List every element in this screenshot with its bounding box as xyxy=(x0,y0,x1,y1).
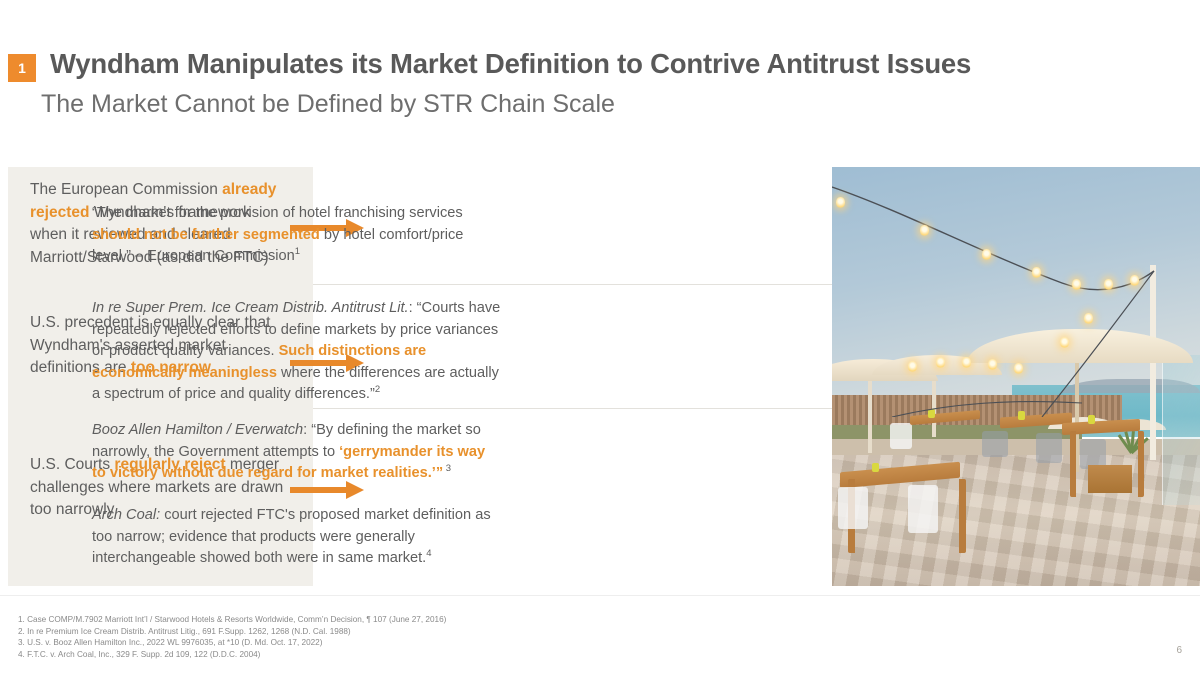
photo-bulb xyxy=(1060,337,1069,348)
arrow-shaft xyxy=(290,487,348,493)
claim-1-pre: The European Commission xyxy=(30,181,222,198)
photo-bulb xyxy=(1084,313,1093,324)
page-subtitle: The Market Cannot be Defined by STR Chai… xyxy=(41,90,1161,119)
photo-bulb xyxy=(988,359,997,370)
quote-1: “The market for the provision of hotel f… xyxy=(92,203,502,268)
photo-bulb xyxy=(836,197,845,208)
quote-1-seg-1: should not be further segmented xyxy=(92,227,320,243)
page-number: 6 xyxy=(1176,645,1182,656)
photo-chair-5 xyxy=(1036,433,1062,463)
photo-string-light-wires xyxy=(832,167,1200,417)
quote-1-seg-0: “The market for the provision of hotel f… xyxy=(92,205,463,221)
footnote-3: 3. U.S. v. Booz Allen Hamilton Inc., 202… xyxy=(18,637,818,649)
photo-chair-2 xyxy=(908,485,938,533)
rooftop-terrace-photo xyxy=(832,167,1200,586)
footer-divider xyxy=(0,595,1200,596)
quote-3: Booz Allen Hamilton / Everwatch: “By def… xyxy=(92,420,502,485)
photo-bulb xyxy=(1014,363,1023,374)
section-number-badge: 1 xyxy=(8,54,36,82)
photo-bulb xyxy=(920,225,929,236)
quote-3-case-name: Booz Allen Hamilton / Everwatch xyxy=(92,422,303,438)
photo-bulb xyxy=(962,357,971,368)
quote-2-footnote-ref: 2 xyxy=(375,384,380,395)
photo-bulb xyxy=(936,357,945,368)
photo-chair-1 xyxy=(838,487,868,529)
photo-bulb xyxy=(908,361,917,372)
quote-1-footnote-ref: 1 xyxy=(295,246,300,257)
footnote-1: 1. Case COMP/M.7902 Marriott Int’l / Sta… xyxy=(18,614,818,626)
photo-chair-3 xyxy=(890,423,912,449)
photo-planter-box xyxy=(1088,465,1132,493)
quote-2: In re Super Prem. Ice Cream Distrib. Ant… xyxy=(92,298,502,406)
quote-4-footnote-ref: 4 xyxy=(426,548,431,559)
footnote-2: 2. In re Premium Ice Cream Distrib. Anti… xyxy=(18,626,818,638)
quote-4: Arch Coal: court rejected FTC's proposed… xyxy=(92,505,502,570)
photo-bulb xyxy=(1104,279,1113,290)
page-title: Wyndham Manipulates its Market Definitio… xyxy=(50,48,1170,80)
quote-4-case-name: Arch Coal: xyxy=(92,507,160,523)
photo-bulb xyxy=(1072,279,1081,290)
photo-candle-4 xyxy=(872,463,879,472)
footnotes: 1. Case COMP/M.7902 Marriott Int’l / Sta… xyxy=(18,614,818,660)
row-divider-1 xyxy=(313,284,832,285)
photo-chair-4 xyxy=(982,431,1008,457)
photo-bulb xyxy=(982,249,991,260)
photo-bulb xyxy=(1032,267,1041,278)
photo-bulb xyxy=(1130,275,1139,286)
quote-2-case-name: In re Super Prem. Ice Cream Distrib. Ant… xyxy=(92,300,409,316)
slide-header: 1 Wyndham Manipulates its Market Definit… xyxy=(0,0,1200,155)
content-area: The European Commission already rejected… xyxy=(8,167,1200,586)
footnote-4: 4. F.T.C. v. Arch Coal, Inc., 329 F. Sup… xyxy=(18,649,818,661)
row-divider-2 xyxy=(313,408,832,409)
quote-3-footnote-ref: 3 xyxy=(443,463,451,474)
